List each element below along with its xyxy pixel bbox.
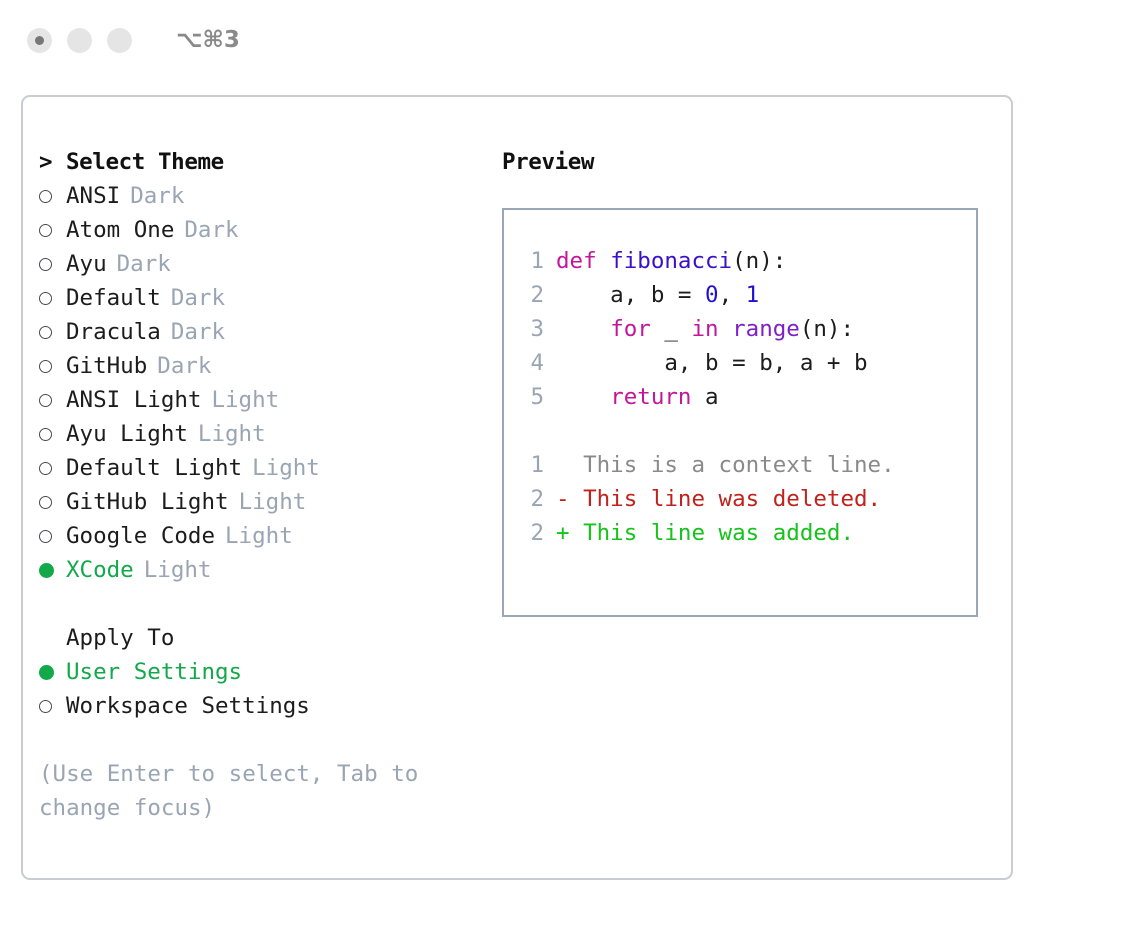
theme-option-row[interactable]: XCodeLight bbox=[39, 553, 469, 587]
theme-option-row[interactable]: DraculaDark bbox=[39, 315, 469, 349]
code-token: def bbox=[556, 248, 610, 274]
theme-option-row[interactable]: GitHub LightLight bbox=[39, 485, 469, 519]
diff-text: This line was added. bbox=[570, 520, 854, 546]
theme-option-label: GitHub Light bbox=[66, 485, 229, 519]
diff-text: This line was deleted. bbox=[570, 486, 882, 512]
theme-variant-label: Light bbox=[144, 553, 212, 587]
diff-line-number: 1 bbox=[518, 448, 544, 482]
radio-unselected-icon[interactable] bbox=[39, 496, 66, 509]
code-token: in bbox=[691, 316, 718, 342]
theme-option-row[interactable]: Default LightLight bbox=[39, 451, 469, 485]
radio-glyph-icon bbox=[39, 360, 52, 373]
theme-variant-label: Light bbox=[198, 417, 266, 451]
code-token: 1 bbox=[746, 282, 760, 308]
diff-line: 2- This line was deleted. bbox=[518, 482, 976, 516]
theme-option-label: Ayu Light bbox=[66, 417, 188, 451]
radio-glyph-icon bbox=[39, 563, 54, 578]
code-line-number: 2 bbox=[518, 278, 544, 312]
radio-unselected-icon[interactable] bbox=[39, 292, 66, 305]
theme-option-row[interactable]: GitHubDark bbox=[39, 349, 469, 383]
theme-option-row[interactable]: Atom OneDark bbox=[39, 213, 469, 247]
theme-variant-label: Light bbox=[211, 383, 279, 417]
code-token: return bbox=[610, 384, 691, 410]
code-diff-spacer bbox=[518, 414, 976, 448]
preview-column: Preview 1def fibonacci(n):2 a, b = 0, 13… bbox=[502, 145, 992, 617]
theme-option-label: Atom One bbox=[66, 213, 174, 247]
radio-glyph-icon bbox=[39, 292, 52, 305]
radio-unselected-icon[interactable] bbox=[39, 326, 66, 339]
theme-variant-label: Dark bbox=[157, 349, 211, 383]
code-token: range bbox=[732, 316, 800, 342]
radio-glyph-icon bbox=[39, 428, 52, 441]
theme-option-label: Google Code bbox=[66, 519, 215, 553]
section-spacer bbox=[39, 587, 469, 621]
radio-unselected-icon[interactable] bbox=[39, 530, 66, 543]
theme-option-label: ANSI bbox=[66, 179, 120, 213]
code-line: 3 for _ in range(n): bbox=[518, 312, 976, 346]
theme-option-label: Dracula bbox=[66, 315, 161, 349]
theme-selector-column: > Select Theme ANSIDarkAtom OneDarkAyuDa… bbox=[39, 145, 469, 825]
select-theme-heading: > Select Theme bbox=[39, 145, 469, 179]
radio-glyph-icon bbox=[39, 258, 52, 271]
theme-variant-label: Light bbox=[239, 485, 307, 519]
theme-list: ANSIDarkAtom OneDarkAyuDarkDefaultDarkDr… bbox=[39, 179, 469, 587]
radio-glyph-icon bbox=[39, 496, 52, 509]
theme-variant-label: Dark bbox=[130, 179, 184, 213]
theme-option-label: Default bbox=[66, 281, 161, 315]
window-dot-third-icon[interactable] bbox=[107, 28, 132, 53]
code-line-number: 4 bbox=[518, 346, 544, 380]
code-token: _ bbox=[651, 316, 692, 342]
code-token: for bbox=[610, 316, 651, 342]
code-preview-panel: 1def fibonacci(n):2 a, b = 0, 13 for _ i… bbox=[502, 208, 978, 617]
radio-unselected-icon[interactable] bbox=[39, 258, 66, 271]
window-dot-second-icon[interactable] bbox=[67, 28, 92, 53]
theme-variant-label: Light bbox=[252, 451, 320, 485]
apply-to-list: User SettingsWorkspace Settings bbox=[39, 655, 469, 723]
theme-option-label: XCode bbox=[66, 553, 134, 587]
app-window: ⌥⌘3 > Select Theme ANSIDarkAtom OneDarkA… bbox=[0, 0, 1140, 934]
window-dot-active-icon[interactable] bbox=[27, 28, 52, 53]
code-token: (n): bbox=[732, 248, 786, 274]
theme-option-label: ANSI Light bbox=[66, 383, 201, 417]
code-line-number: 5 bbox=[518, 380, 544, 414]
code-token bbox=[719, 316, 733, 342]
radio-unselected-icon[interactable] bbox=[39, 700, 66, 713]
apply-to-heading: Apply To bbox=[39, 621, 469, 655]
radio-glyph-icon bbox=[39, 394, 52, 407]
code-line: 4 a, b = b, a + b bbox=[518, 346, 976, 380]
theme-variant-label: Light bbox=[225, 519, 293, 553]
code-token bbox=[556, 316, 610, 342]
apply-to-option-row[interactable]: Workspace Settings bbox=[39, 689, 469, 723]
theme-option-label: Ayu bbox=[66, 247, 107, 281]
radio-unselected-icon[interactable] bbox=[39, 190, 66, 203]
code-token: 0 bbox=[705, 282, 719, 308]
theme-variant-label: Dark bbox=[117, 247, 171, 281]
apply-to-option-row[interactable]: User Settings bbox=[39, 655, 469, 689]
diff-line-number: 2 bbox=[518, 516, 544, 550]
title-bar: ⌥⌘3 bbox=[0, 0, 1140, 80]
theme-option-row[interactable]: Google CodeLight bbox=[39, 519, 469, 553]
theme-option-row[interactable]: Ayu LightLight bbox=[39, 417, 469, 451]
radio-unselected-icon[interactable] bbox=[39, 224, 66, 237]
code-token: fibonacci bbox=[610, 248, 732, 274]
code-token: a, b = bbox=[556, 282, 705, 308]
diff-sample: 1 This is a context line.2- This line wa… bbox=[518, 448, 976, 550]
code-token: a bbox=[691, 384, 718, 410]
radio-glyph-icon bbox=[39, 665, 54, 680]
radio-glyph-icon bbox=[39, 462, 52, 475]
code-token bbox=[556, 384, 610, 410]
code-token: (n): bbox=[800, 316, 854, 342]
main-panel: > Select Theme ANSIDarkAtom OneDarkAyuDa… bbox=[21, 95, 1013, 880]
window-dot-core-icon bbox=[35, 36, 44, 45]
radio-glyph-icon bbox=[39, 190, 52, 203]
theme-option-label: GitHub bbox=[66, 349, 147, 383]
diff-sign: - bbox=[556, 486, 570, 512]
diff-sign: + bbox=[556, 520, 570, 546]
radio-glyph-icon bbox=[39, 700, 52, 713]
radio-glyph-icon bbox=[39, 326, 52, 339]
diff-text: This is a context line. bbox=[570, 452, 895, 478]
keyboard-hint-text: (Use Enter to select, Tab to change focu… bbox=[39, 757, 439, 825]
theme-variant-label: Dark bbox=[171, 281, 225, 315]
apply-to-option-label: Workspace Settings bbox=[66, 689, 310, 723]
prompt-caret-icon: > bbox=[39, 145, 66, 179]
code-sample: 1def fibonacci(n):2 a, b = 0, 13 for _ i… bbox=[518, 244, 976, 414]
radio-glyph-icon bbox=[39, 224, 52, 237]
apply-to-option-label: User Settings bbox=[66, 655, 242, 689]
theme-option-row[interactable]: AyuDark bbox=[39, 247, 469, 281]
diff-sign bbox=[556, 452, 570, 478]
diff-line-number: 2 bbox=[518, 482, 544, 516]
radio-unselected-icon[interactable] bbox=[39, 462, 66, 475]
code-line: 5 return a bbox=[518, 380, 976, 414]
radio-unselected-icon[interactable] bbox=[39, 360, 66, 373]
theme-option-row[interactable]: DefaultDark bbox=[39, 281, 469, 315]
theme-option-label: Default Light bbox=[66, 451, 242, 485]
apply-to-heading-label: Apply To bbox=[66, 621, 174, 655]
diff-line: 1 This is a context line. bbox=[518, 448, 976, 482]
code-token: a, b = b, a + b bbox=[556, 350, 868, 376]
code-line-number: 1 bbox=[518, 244, 544, 278]
radio-unselected-icon[interactable] bbox=[39, 428, 66, 441]
code-line-number: 3 bbox=[518, 312, 544, 346]
theme-option-row[interactable]: ANSIDark bbox=[39, 179, 469, 213]
select-theme-heading-label: Select Theme bbox=[66, 145, 224, 179]
theme-variant-label: Dark bbox=[184, 213, 238, 247]
code-token: , bbox=[719, 282, 746, 308]
radio-selected-icon[interactable] bbox=[39, 665, 66, 680]
diff-line: 2+ This line was added. bbox=[518, 516, 976, 550]
radio-glyph-icon bbox=[39, 530, 52, 543]
radio-unselected-icon[interactable] bbox=[39, 394, 66, 407]
keyboard-shortcut-label: ⌥⌘3 bbox=[176, 27, 240, 53]
code-line: 1def fibonacci(n): bbox=[518, 244, 976, 278]
radio-selected-icon[interactable] bbox=[39, 563, 66, 578]
theme-option-row[interactable]: ANSI LightLight bbox=[39, 383, 469, 417]
preview-heading-label: Preview bbox=[502, 145, 992, 179]
theme-variant-label: Dark bbox=[171, 315, 225, 349]
code-line: 2 a, b = 0, 1 bbox=[518, 278, 976, 312]
